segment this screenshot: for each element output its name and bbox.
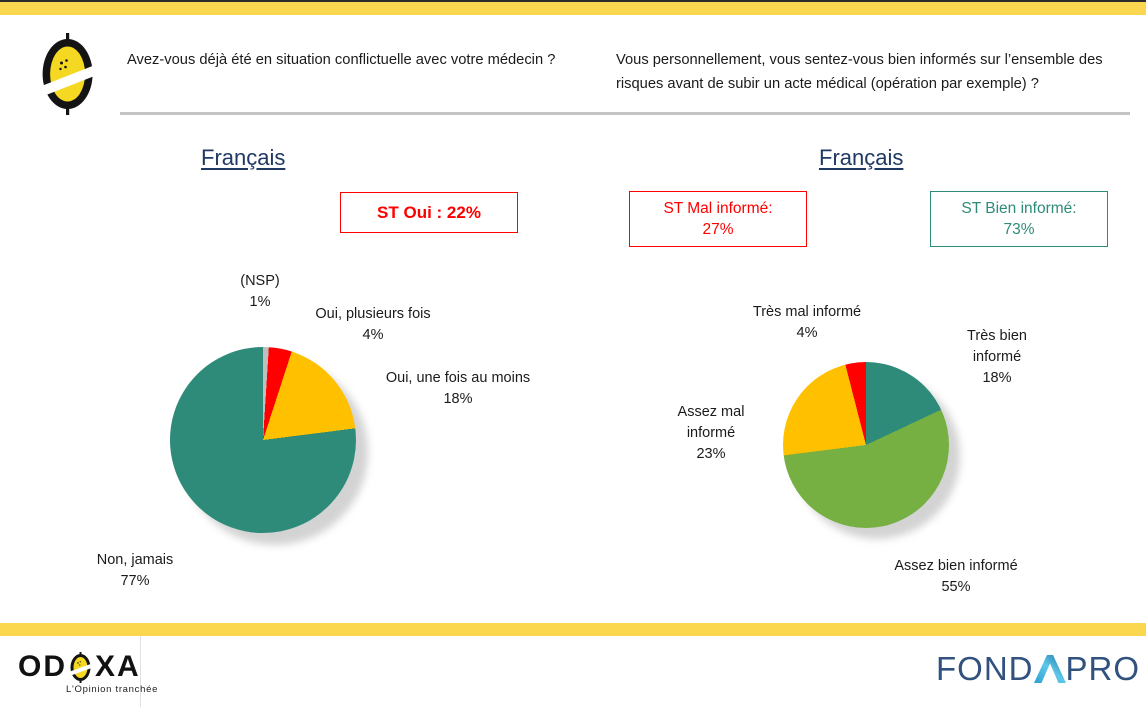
bottom-yellow-band <box>0 623 1146 636</box>
left-pie-slices <box>170 347 356 533</box>
top-yellow-band <box>0 2 1146 15</box>
fondapro-text-1: FOND <box>936 651 1034 687</box>
right-pie-chart <box>783 362 963 537</box>
right-label-assezmal-name-2: informé <box>652 423 770 444</box>
right-panel-title: Français <box>819 145 903 171</box>
right-label-assezbien: Assez bien informé 55% <box>866 556 1046 598</box>
st-mal-informe-badge: ST Mal informé: 27% <box>629 191 807 247</box>
right-label-assezmal-value: 23% <box>652 444 770 465</box>
left-label-plusieurs: Oui, plusieurs fois 4% <box>283 304 463 346</box>
fondapro-text-2: PRO <box>1066 651 1141 687</box>
left-panel-title: Français <box>201 145 285 171</box>
st-mal-label: ST Mal informé: <box>663 198 772 219</box>
question-right: Vous personnellement, vous sentez-vous b… <box>616 48 1126 96</box>
right-label-assezmal: Assez mal informé 23% <box>652 402 770 465</box>
left-label-non-value: 77% <box>75 571 195 592</box>
right-label-tresbien: Très bien informé 18% <box>938 326 1056 389</box>
left-label-nsp-name: (NSP) <box>200 271 320 292</box>
right-label-assezmal-name-1: Assez mal <box>652 402 770 423</box>
left-pie-chart <box>170 347 370 542</box>
right-label-tresmal-value: 4% <box>728 323 886 344</box>
left-label-plusieurs-value: 4% <box>283 325 463 346</box>
right-label-tresmal: Très mal informé 4% <box>728 302 886 344</box>
left-label-unefois: Oui, une fois au moins 18% <box>358 368 558 410</box>
odoxa-text-1: OD <box>18 651 67 683</box>
header-divider <box>120 112 1130 115</box>
odoxa-lemon-o-icon <box>68 652 94 683</box>
fondapro-logo: FOND PRO <box>936 651 1140 687</box>
left-label-unefois-name: Oui, une fois au moins <box>358 368 558 389</box>
odoxa-tagline: L'Opinion tranchée <box>66 684 158 695</box>
left-label-plusieurs-name: Oui, plusieurs fois <box>283 304 463 325</box>
odoxa-wordmark: OD XA <box>18 651 158 683</box>
left-label-unefois-value: 18% <box>358 389 558 410</box>
right-pie-slices <box>783 362 949 528</box>
right-label-tresbien-name-2: informé <box>938 347 1056 368</box>
st-bien-value: 73% <box>961 219 1076 240</box>
st-bien-informe-badge: ST Bien informé: 73% <box>930 191 1108 247</box>
odoxa-footer-logo: OD XA L'Opinion tranchée <box>18 651 158 695</box>
right-label-assezbien-name: Assez bien informé <box>866 556 1046 577</box>
odoxa-text-2: XA <box>95 651 141 683</box>
fondapro-a-icon <box>1033 652 1067 686</box>
right-label-assezbien-value: 55% <box>866 577 1046 598</box>
st-mal-value: 27% <box>663 219 772 240</box>
right-label-tresmal-name: Très mal informé <box>728 302 886 323</box>
question-left: Avez-vous déjà été en situation conflict… <box>127 48 597 72</box>
left-label-non: Non, jamais 77% <box>75 550 195 592</box>
st-bien-label: ST Bien informé: <box>961 198 1076 219</box>
left-label-non-name: Non, jamais <box>75 550 195 571</box>
right-label-tresbien-value: 18% <box>938 368 1056 389</box>
odoxa-lemon-logo-icon <box>37 33 99 115</box>
right-label-tresbien-name-1: Très bien <box>938 326 1056 347</box>
st-oui-badge: ST Oui : 22% <box>340 192 518 233</box>
st-oui-label: ST Oui : 22% <box>377 202 481 223</box>
